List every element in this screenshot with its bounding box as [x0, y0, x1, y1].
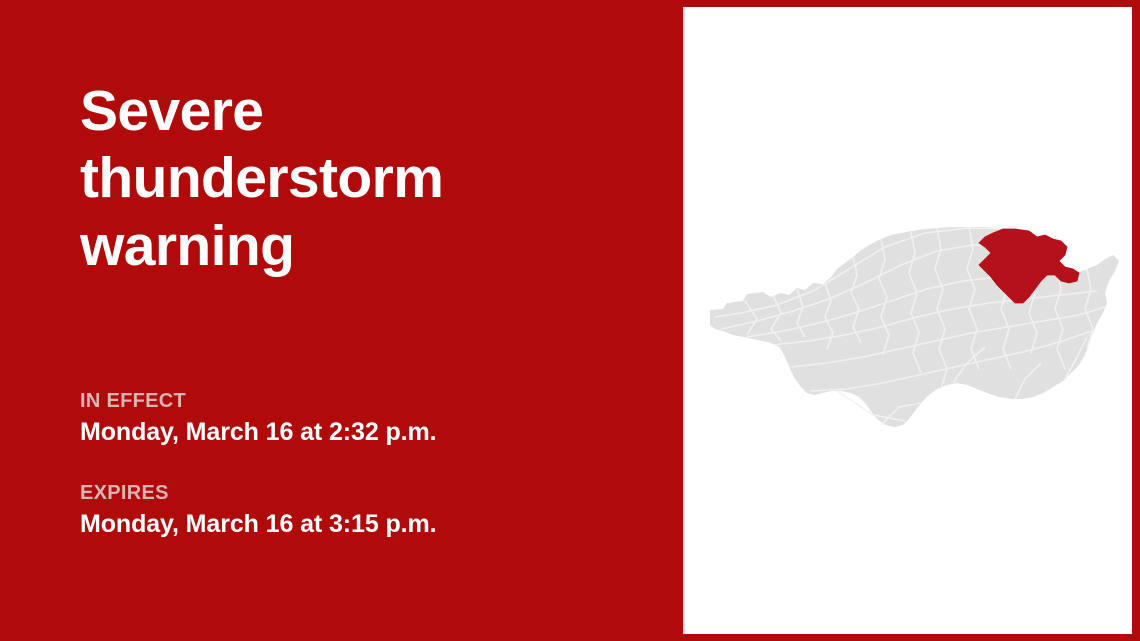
alert-text-panel: Severe thunderstorm warning IN EFFECT Mo…	[0, 0, 683, 641]
in-effect-value: Monday, March 16 at 2:32 p.m.	[80, 416, 660, 450]
in-effect-label: IN EFFECT	[80, 388, 660, 415]
alert-headline: Severe thunderstorm warning	[80, 78, 640, 280]
expires-label: EXPIRES	[80, 480, 660, 507]
map-panel	[683, 7, 1132, 634]
expires-value: Monday, March 16 at 3:15 p.m.	[80, 508, 660, 542]
in-effect-group: IN EFFECT Monday, March 16 at 2:32 p.m.	[80, 388, 660, 450]
expires-group: EXPIRES Monday, March 16 at 3:15 p.m.	[80, 480, 660, 542]
frame-right-edge	[1132, 0, 1140, 641]
alert-timing-block: IN EFFECT Monday, March 16 at 2:32 p.m. …	[80, 388, 660, 542]
severe-weather-alert-card: Severe thunderstorm warning IN EFFECT Mo…	[0, 0, 1140, 641]
north-carolina-county-map	[685, 7, 1134, 634]
